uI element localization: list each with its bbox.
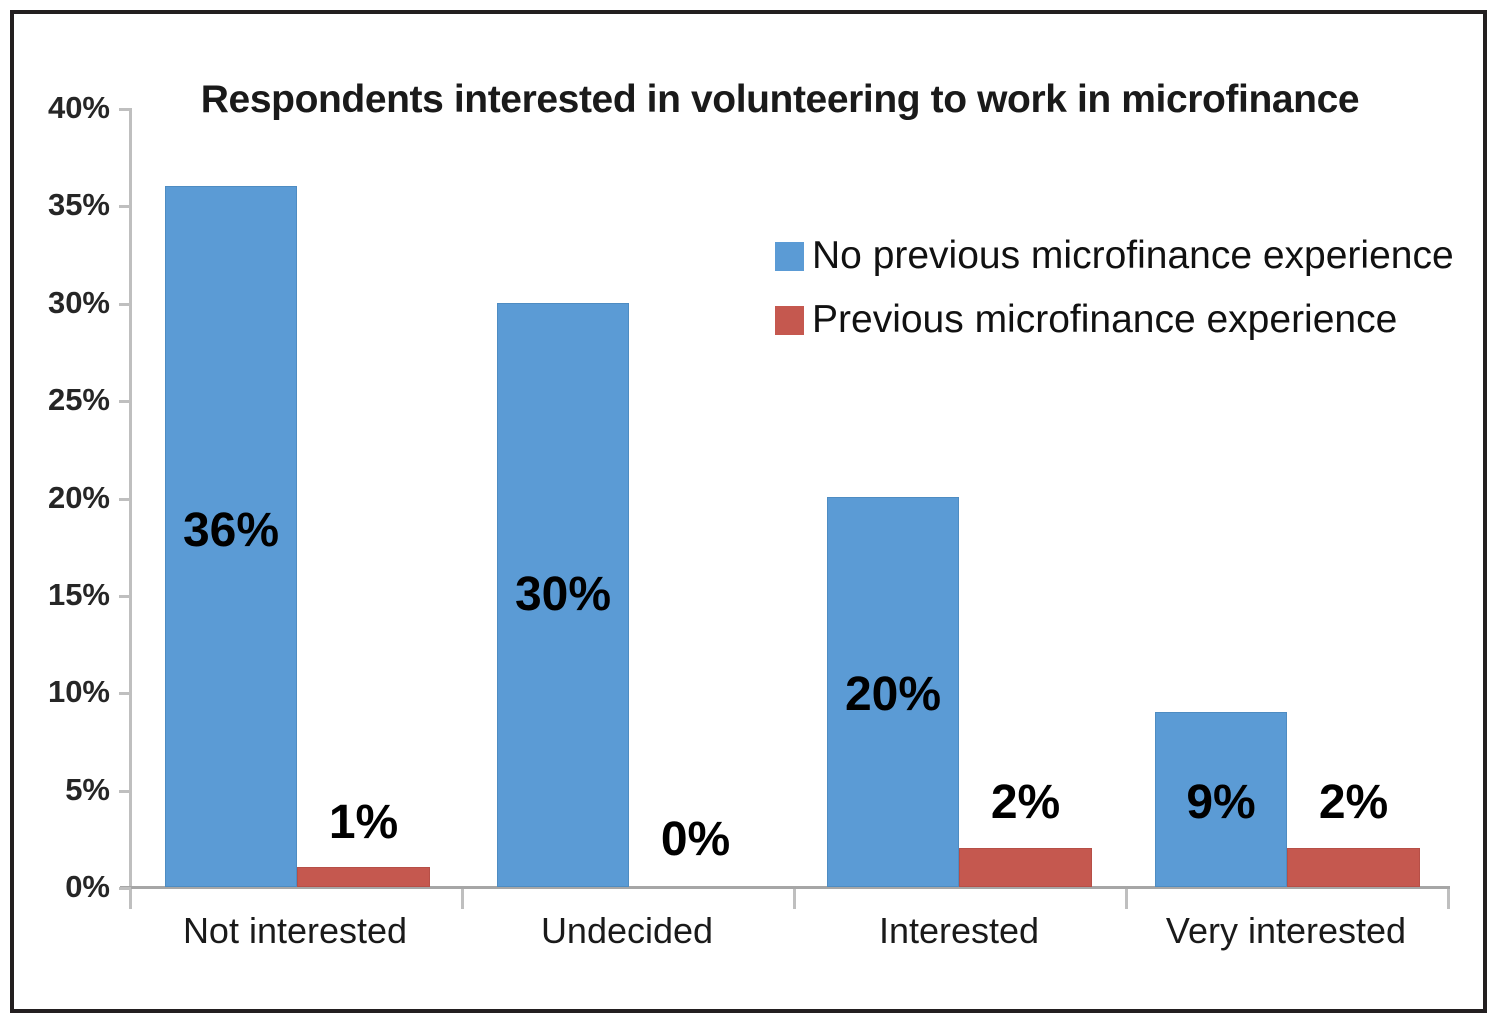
x-axis-category-label-interested: Interested <box>793 910 1125 952</box>
data-label-series-a-interested: 20% <box>827 667 959 722</box>
y-axis-tick <box>119 205 131 208</box>
bar-series-b-not-interested[interactable] <box>297 867 430 887</box>
y-axis-tick <box>119 790 131 793</box>
y-axis-tick <box>119 400 131 403</box>
x-axis-group-separator <box>461 889 464 909</box>
y-axis-tick <box>119 595 131 598</box>
y-axis-label-wrap: 0% <box>20 869 110 905</box>
y-axis-label-wrap: 35% <box>20 187 110 223</box>
chart-screenshot: Respondents interested in volunteering t… <box>0 0 1500 1027</box>
data-label-series-b-not-interested: 1% <box>297 795 430 850</box>
y-axis-label-wrap: 20% <box>20 480 110 516</box>
y-axis-tick <box>119 498 131 501</box>
legend-swatch-icon-series-b <box>775 306 804 335</box>
chart-title: Respondents interested in volunteering t… <box>150 78 1410 122</box>
legend-label-series-a: No previous microfinance experience <box>812 228 1454 284</box>
x-axis-group-separator <box>1125 889 1128 909</box>
data-label-series-a-not-interested: 36% <box>165 503 297 558</box>
bar-series-b-very-interested[interactable] <box>1287 848 1420 887</box>
bar-chart: Respondents interested in volunteering t… <box>0 0 1500 1027</box>
y-axis-tick-label: 40% <box>20 90 110 126</box>
y-axis-tick-label: 20% <box>20 480 110 516</box>
bar-series-b-interested[interactable] <box>959 848 1092 887</box>
legend-swatch-icon-series-a <box>775 242 804 271</box>
y-axis-label-wrap: 5% <box>20 772 110 808</box>
legend-label-series-b: Previous microfinance experience <box>812 292 1397 348</box>
data-label-series-a-undecided: 30% <box>497 567 629 622</box>
data-label-series-b-interested: 2% <box>959 775 1092 830</box>
y-axis-label-wrap: 40% <box>20 90 110 126</box>
x-axis-group-separator <box>1447 889 1450 909</box>
data-label-series-b-undecided: 0% <box>629 812 762 867</box>
x-axis-category-label-undecided: Undecided <box>461 910 793 952</box>
y-axis-tick-label: 30% <box>20 285 110 321</box>
x-axis-group-separator <box>129 889 132 909</box>
y-axis-label-wrap: 25% <box>20 382 110 418</box>
y-axis-tick-label: 35% <box>20 187 110 223</box>
y-axis-tick-label: 0% <box>20 869 110 905</box>
y-axis-tick <box>119 692 131 695</box>
y-axis-tick <box>119 303 131 306</box>
data-label-series-a-very-interested: 9% <box>1155 775 1287 830</box>
y-axis-label-wrap: 30% <box>20 285 110 321</box>
y-axis-label-wrap: 10% <box>20 674 110 710</box>
x-axis-category-label-not-interested: Not interested <box>129 910 461 952</box>
y-axis-tick <box>119 108 131 111</box>
y-axis-tick-label: 10% <box>20 674 110 710</box>
y-axis-tick-label: 25% <box>20 382 110 418</box>
data-label-series-b-very-interested: 2% <box>1287 775 1420 830</box>
y-axis-tick-label: 15% <box>20 577 110 613</box>
x-axis-category-label-very-interested: Very interested <box>1125 910 1447 952</box>
x-axis-group-separator <box>793 889 796 909</box>
y-axis-tick-label: 5% <box>20 772 110 808</box>
y-axis-label-wrap: 15% <box>20 577 110 613</box>
